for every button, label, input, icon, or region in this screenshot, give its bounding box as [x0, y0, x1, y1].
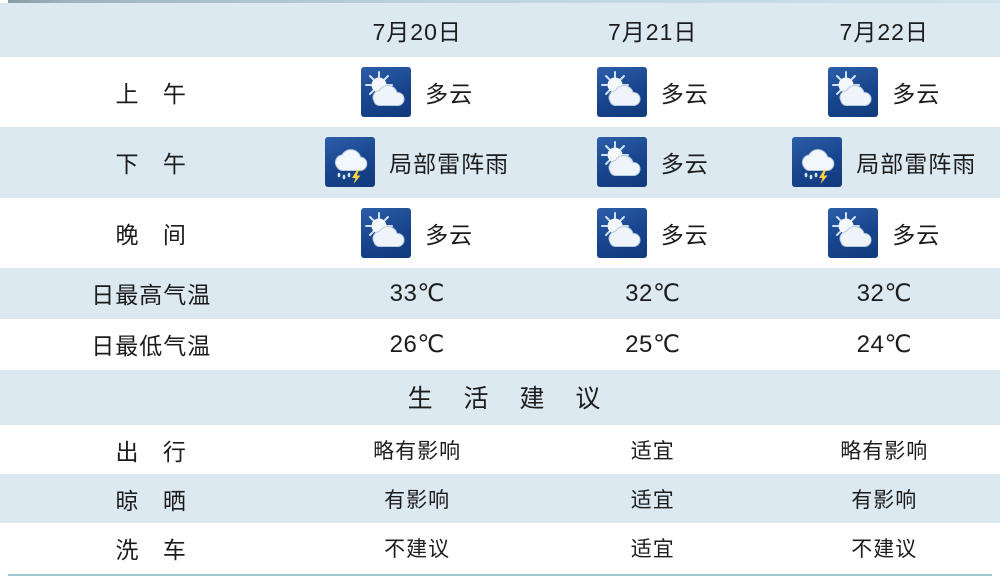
condition-group: 多云 — [597, 208, 709, 258]
condition-text: 多云 — [425, 75, 473, 109]
partly-cloudy-icon — [597, 208, 647, 258]
date-label: 7月21日 — [608, 13, 697, 47]
row-label-max-temp: 日最高气温 — [8, 276, 297, 310]
advice-cell: 略有影响 — [297, 435, 537, 465]
advice-cell: 不建议 — [768, 533, 1000, 563]
partly-cloudy-icon — [361, 208, 411, 258]
condition-group: 局部雷阵雨 — [325, 137, 509, 187]
max-temp-cell: 33℃ — [297, 279, 537, 308]
temperature-value: 24℃ — [857, 330, 912, 359]
advice-cell: 略有影响 — [768, 435, 1000, 465]
condition-group: 多云 — [361, 67, 473, 117]
forecast-cell: 多云 — [297, 67, 537, 117]
min-temp-cell: 26℃ — [297, 330, 537, 359]
advice-value: 略有影响 — [840, 435, 928, 465]
condition-group: 多云 — [828, 208, 940, 258]
advice-value: 不建议 — [851, 533, 917, 563]
bottom-divider — [8, 574, 992, 576]
row-label-text: 晚 间 — [107, 216, 195, 250]
table-row-advice-drying: 晾 晒 有影响 适宜 有影响 — [0, 474, 1000, 523]
condition-text: 多云 — [892, 216, 940, 250]
table-header-row: 7月20日 7月21日 7月22日 — [0, 3, 1000, 57]
date-label: 7月20日 — [372, 13, 461, 47]
table-row-afternoon: 下 午 局部雷阵 — [0, 127, 1000, 197]
row-label-text: 出 行 — [107, 433, 195, 467]
table-row-advice-travel: 出 行 略有影响 适宜 略有影响 — [0, 425, 1000, 474]
partly-cloudy-icon — [597, 137, 647, 187]
weather-forecast-table: 7月20日 7月21日 7月22日 上 午 — [0, 0, 1000, 578]
partly-cloudy-icon — [828, 67, 878, 117]
thunderstorm-icon — [792, 137, 842, 187]
advice-cell: 适宜 — [537, 435, 769, 465]
condition-text: 多云 — [661, 75, 709, 109]
temperature-value: 33℃ — [390, 279, 445, 308]
row-label-carwash: 洗 车 — [8, 531, 297, 565]
advice-value: 不建议 — [384, 533, 450, 563]
row-label-min-temp: 日最低气温 — [8, 327, 297, 361]
condition-text: 多云 — [661, 216, 709, 250]
forecast-cell: 多云 — [537, 137, 769, 187]
row-label-text: 日最高气温 — [90, 276, 211, 310]
advice-value: 有影响 — [851, 484, 917, 514]
header-date-2: 7月21日 — [537, 13, 769, 47]
condition-text: 多云 — [661, 145, 709, 179]
min-temp-cell: 25℃ — [537, 330, 769, 359]
row-label-text: 晾 晒 — [107, 482, 195, 516]
temperature-value: 26℃ — [390, 330, 445, 359]
advice-value: 适宜 — [631, 484, 675, 514]
advice-cell: 适宜 — [537, 484, 769, 514]
row-label-text: 下 午 — [107, 145, 195, 179]
condition-text: 局部雷阵雨 — [389, 145, 509, 179]
forecast-cell: 多云 — [537, 208, 769, 258]
table-row-night: 晚 间 — [0, 198, 1000, 268]
condition-group: 多云 — [361, 208, 473, 258]
condition-text: 多云 — [892, 75, 940, 109]
advice-value: 有影响 — [384, 484, 450, 514]
condition-group: 多云 — [828, 67, 940, 117]
date-label: 7月22日 — [840, 13, 929, 47]
advice-value: 适宜 — [631, 435, 675, 465]
partly-cloudy-icon — [828, 208, 878, 258]
forecast-cell: 多云 — [768, 208, 1000, 258]
advice-value: 略有影响 — [373, 435, 461, 465]
row-label-travel: 出 行 — [8, 433, 297, 467]
forecast-cell: 局部雷阵雨 — [768, 137, 1000, 187]
advice-cell: 有影响 — [768, 484, 1000, 514]
section-header-life-advice: 生 活 建 议 — [0, 370, 1000, 426]
temperature-value: 25℃ — [625, 330, 680, 359]
forecast-cell: 多云 — [537, 67, 769, 117]
condition-text: 局部雷阵雨 — [856, 145, 976, 179]
max-temp-cell: 32℃ — [768, 279, 1000, 308]
temperature-value: 32℃ — [857, 279, 912, 308]
temperature-value: 32℃ — [625, 279, 680, 308]
partly-cloudy-icon — [597, 67, 647, 117]
advice-value: 适宜 — [631, 533, 675, 563]
row-label-afternoon: 下 午 — [8, 145, 297, 179]
row-label-text: 上 午 — [107, 75, 195, 109]
forecast-cell: 多云 — [297, 208, 537, 258]
section-title-text: 生 活 建 议 — [8, 379, 1000, 415]
row-label-text: 日最低气温 — [90, 327, 211, 361]
table-body: 7月20日 7月21日 7月22日 上 午 — [0, 3, 1000, 572]
row-label-drying: 晾 晒 — [8, 482, 297, 516]
table-row-advice-carwash: 洗 车 不建议 适宜 不建议 — [0, 523, 1000, 572]
header-date-1: 7月20日 — [297, 13, 537, 47]
forecast-cell: 多云 — [768, 67, 1000, 117]
table-row-min-temp: 日最低气温 26℃ 25℃ 24℃ — [0, 319, 1000, 370]
condition-group: 局部雷阵雨 — [792, 137, 976, 187]
condition-group: 多云 — [597, 137, 709, 187]
advice-cell: 有影响 — [297, 484, 537, 514]
row-label-morning: 上 午 — [8, 75, 297, 109]
condition-group: 多云 — [597, 67, 709, 117]
advice-cell: 不建议 — [297, 533, 537, 563]
table-row-max-temp: 日最高气温 33℃ 32℃ 32℃ — [0, 268, 1000, 319]
partly-cloudy-icon — [361, 67, 411, 117]
condition-text: 多云 — [425, 216, 473, 250]
thunderstorm-icon — [325, 137, 375, 187]
max-temp-cell: 32℃ — [537, 279, 769, 308]
row-label-text: 洗 车 — [107, 531, 195, 565]
table-row-morning: 上 午 — [0, 57, 1000, 127]
min-temp-cell: 24℃ — [768, 330, 1000, 359]
forecast-cell: 局部雷阵雨 — [297, 137, 537, 187]
row-label-night: 晚 间 — [8, 216, 297, 250]
header-date-3: 7月22日 — [768, 13, 1000, 47]
advice-cell: 适宜 — [537, 533, 769, 563]
